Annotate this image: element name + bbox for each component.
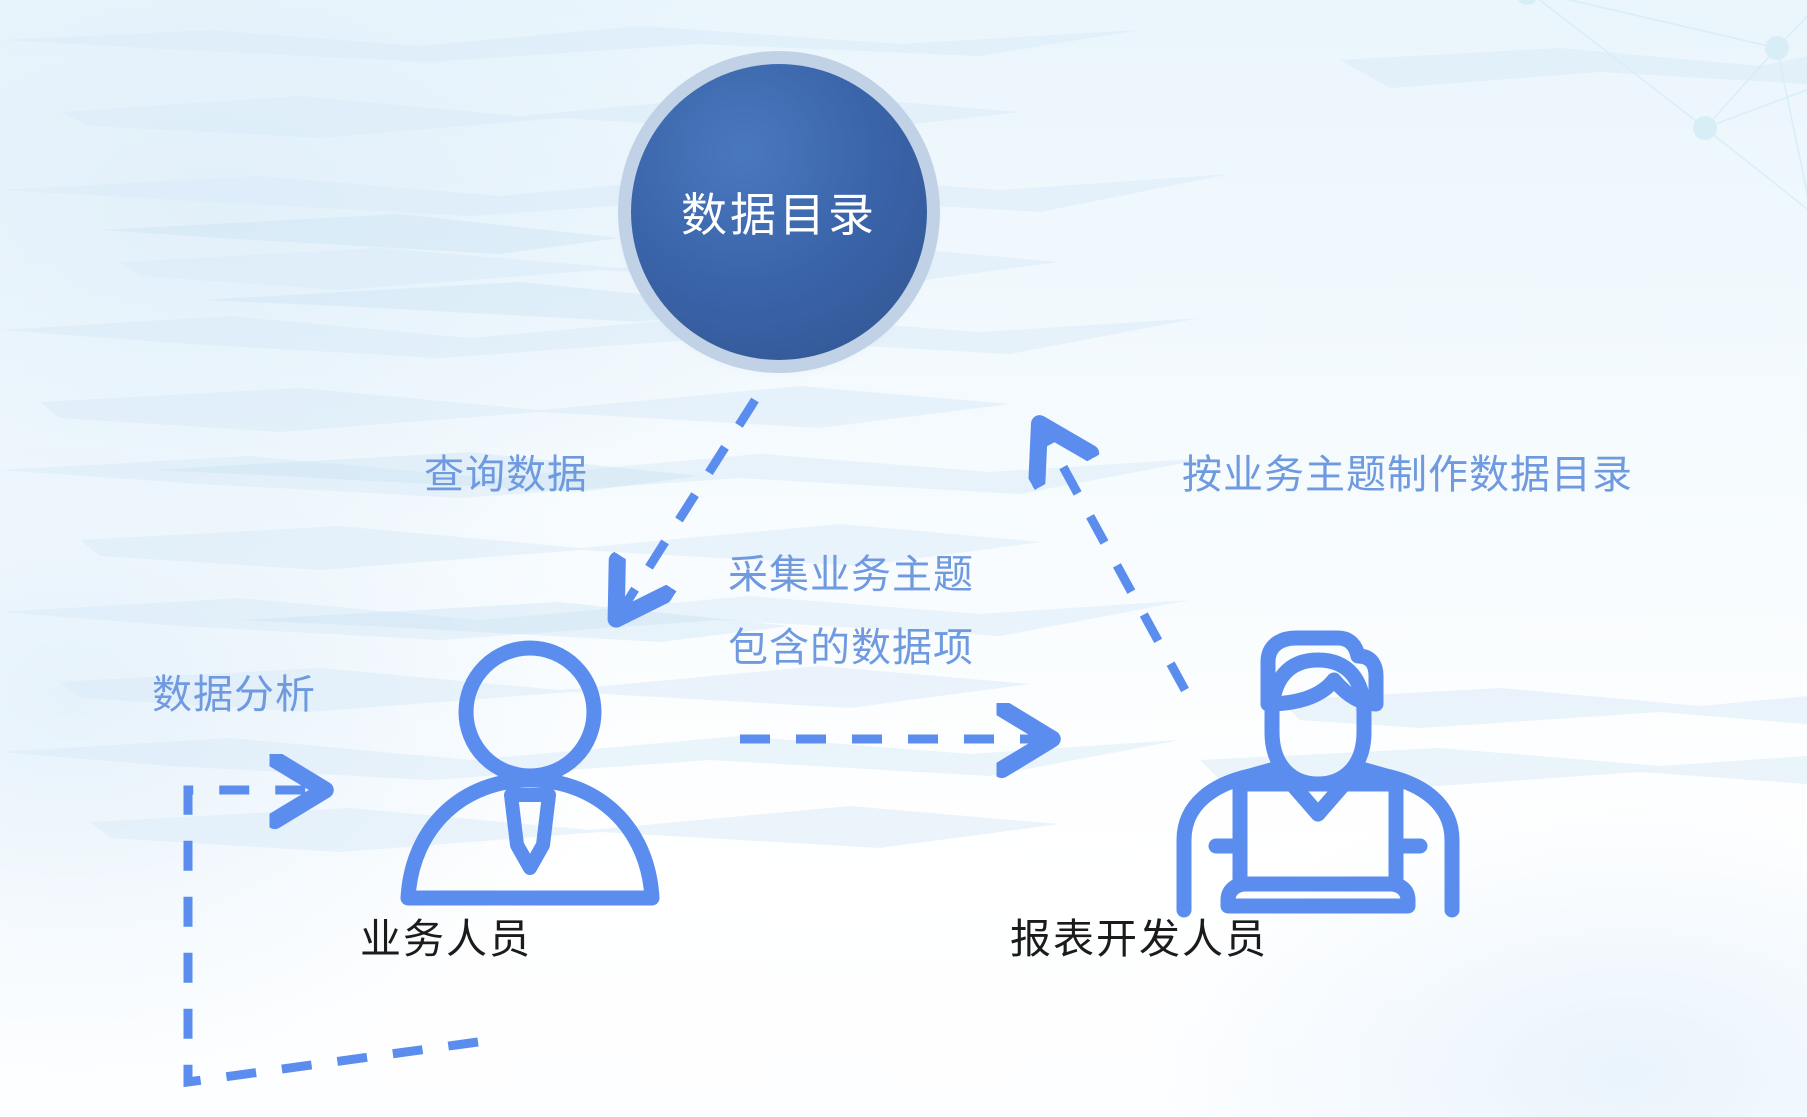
- node-data-catalog-label: 数据目录: [681, 179, 877, 245]
- edge-label-collect-line1: 采集业务主题: [728, 552, 974, 599]
- actor-label-report-developer: 报表开发人员: [1010, 905, 1268, 965]
- node-data-catalog[interactable]: 数据目录: [631, 64, 927, 360]
- edge-label-collect-line2: 包含的数据项: [728, 625, 974, 672]
- necktie-shape: [511, 795, 549, 868]
- actor-label-business-user: 业务人员: [360, 905, 532, 965]
- person-tie-icon[interactable]: [398, 640, 662, 906]
- edge-label-data-analysis: 数据分析: [152, 672, 316, 719]
- arrow-build-catalog: [1043, 430, 1185, 690]
- edge-label-query-data: 查询数据: [424, 452, 588, 499]
- person-laptop-icon[interactable]: [1168, 628, 1468, 918]
- edge-label-build-catalog: 按业务主题制作数据目录: [1182, 452, 1633, 499]
- diagram-canvas: 数据目录 查询数据 按业务主题制作数据目录 采集业务主题 包含的数据项 数据分析…: [0, 0, 1807, 1117]
